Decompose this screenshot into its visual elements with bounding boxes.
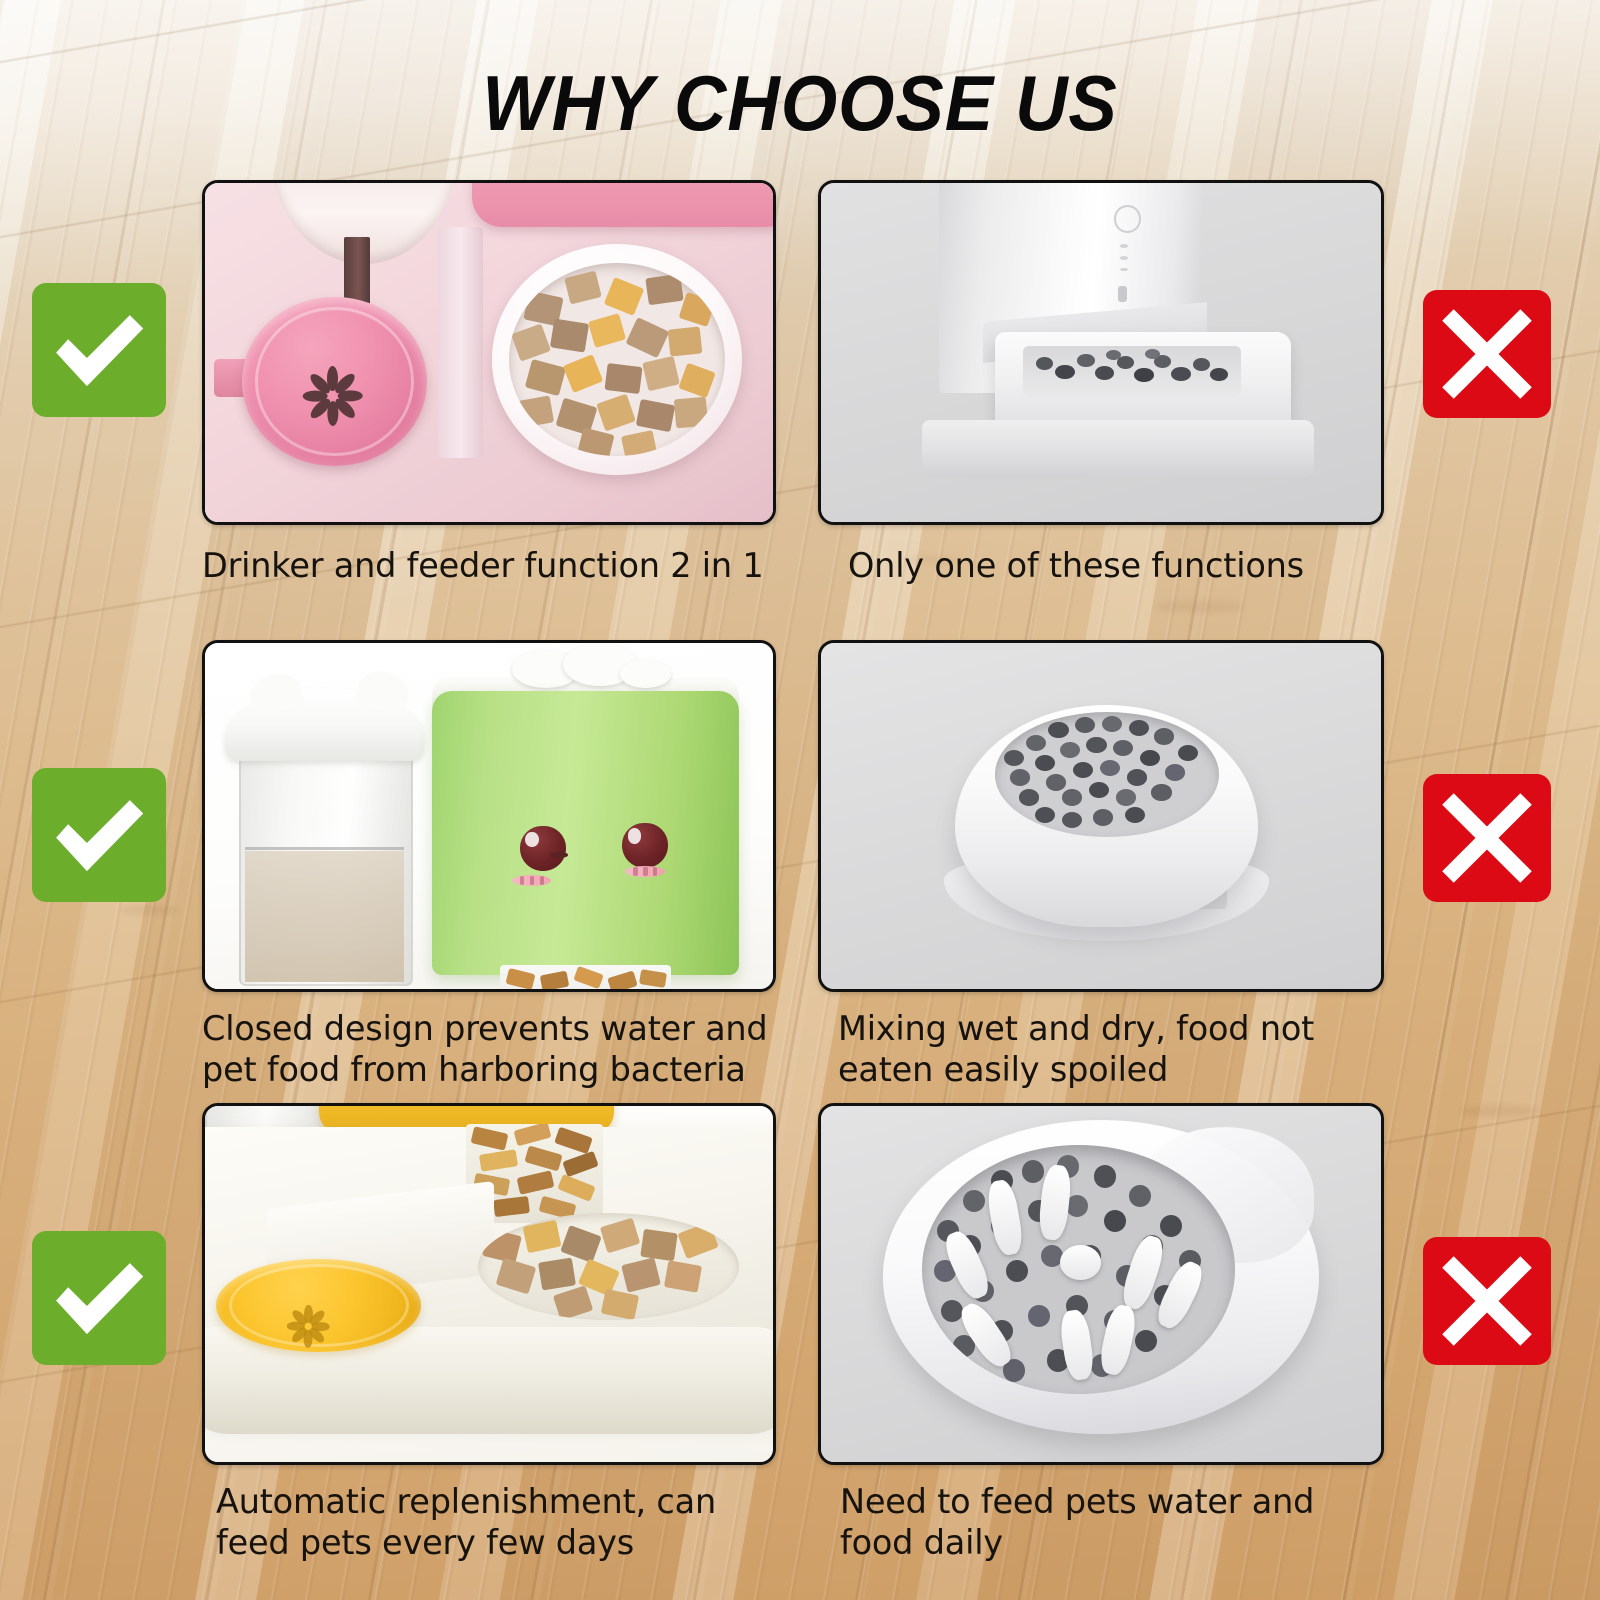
caption-row-3-bad: Need to feed pets water and food daily [840, 1481, 1440, 1563]
product-card-row-2-good[interactable] [202, 640, 776, 992]
photo-slow-feeder-bowl [821, 1106, 1381, 1462]
photo-green-cat-feeder [205, 643, 773, 989]
caption-row-1-good: Drinker and feeder function 2 in 1 [202, 545, 802, 586]
kibble-fill [1023, 346, 1241, 397]
cell-row-2-bad: Mixing wet and dry, food not eaten easil… [818, 640, 1384, 992]
cell-row-1-bad: Only one of these functions [818, 180, 1384, 525]
caption-row-1-bad: Only one of these functions [848, 545, 1448, 586]
cross-icon-row-3 [1423, 1237, 1551, 1365]
cross-icon-row-2 [1423, 774, 1551, 902]
caption-row-3-good: Automatic replenishment, can feed pets e… [216, 1481, 826, 1563]
cross-icon-row-1 [1423, 290, 1551, 418]
kibble-fill [500, 965, 670, 989]
product-card-row-3-bad[interactable] [818, 1103, 1384, 1465]
cell-row-2-good: Closed design prevents water and pet foo… [202, 640, 776, 992]
photo-plain-white-bowl [821, 643, 1381, 989]
photo-pink-two-in-one-feeder [205, 183, 773, 522]
check-icon-row-1 [32, 283, 166, 417]
page-title: WHY CHOOSE US [56, 58, 1544, 149]
kibble-fill [922, 1145, 1236, 1394]
product-card-row-1-bad[interactable] [818, 180, 1384, 525]
check-icon-row-2 [32, 768, 166, 902]
photo-yellow-gravity-feeder [205, 1106, 773, 1462]
comparison-grid: Drinker and feeder function 2 in 1 [0, 0, 1600, 1600]
kibble-fill [995, 712, 1219, 837]
cell-row-3-good: Automatic replenishment, can feed pets e… [202, 1103, 776, 1465]
product-card-row-3-good[interactable] [202, 1103, 776, 1465]
caption-row-2-good: Closed design prevents water and pet foo… [202, 1008, 812, 1090]
caption-row-2-bad: Mixing wet and dry, food not eaten easil… [838, 1008, 1438, 1090]
cell-row-1-good: Drinker and feeder function 2 in 1 [202, 180, 776, 525]
check-icon-row-3 [32, 1231, 166, 1365]
kibble-fill [478, 1213, 739, 1320]
product-card-row-2-bad[interactable] [818, 640, 1384, 992]
kibble-fill [509, 263, 725, 456]
product-card-row-1-good[interactable] [202, 180, 776, 525]
photo-white-auto-feeder [821, 183, 1381, 522]
cell-row-3-bad: Need to feed pets water and food daily [818, 1103, 1384, 1465]
